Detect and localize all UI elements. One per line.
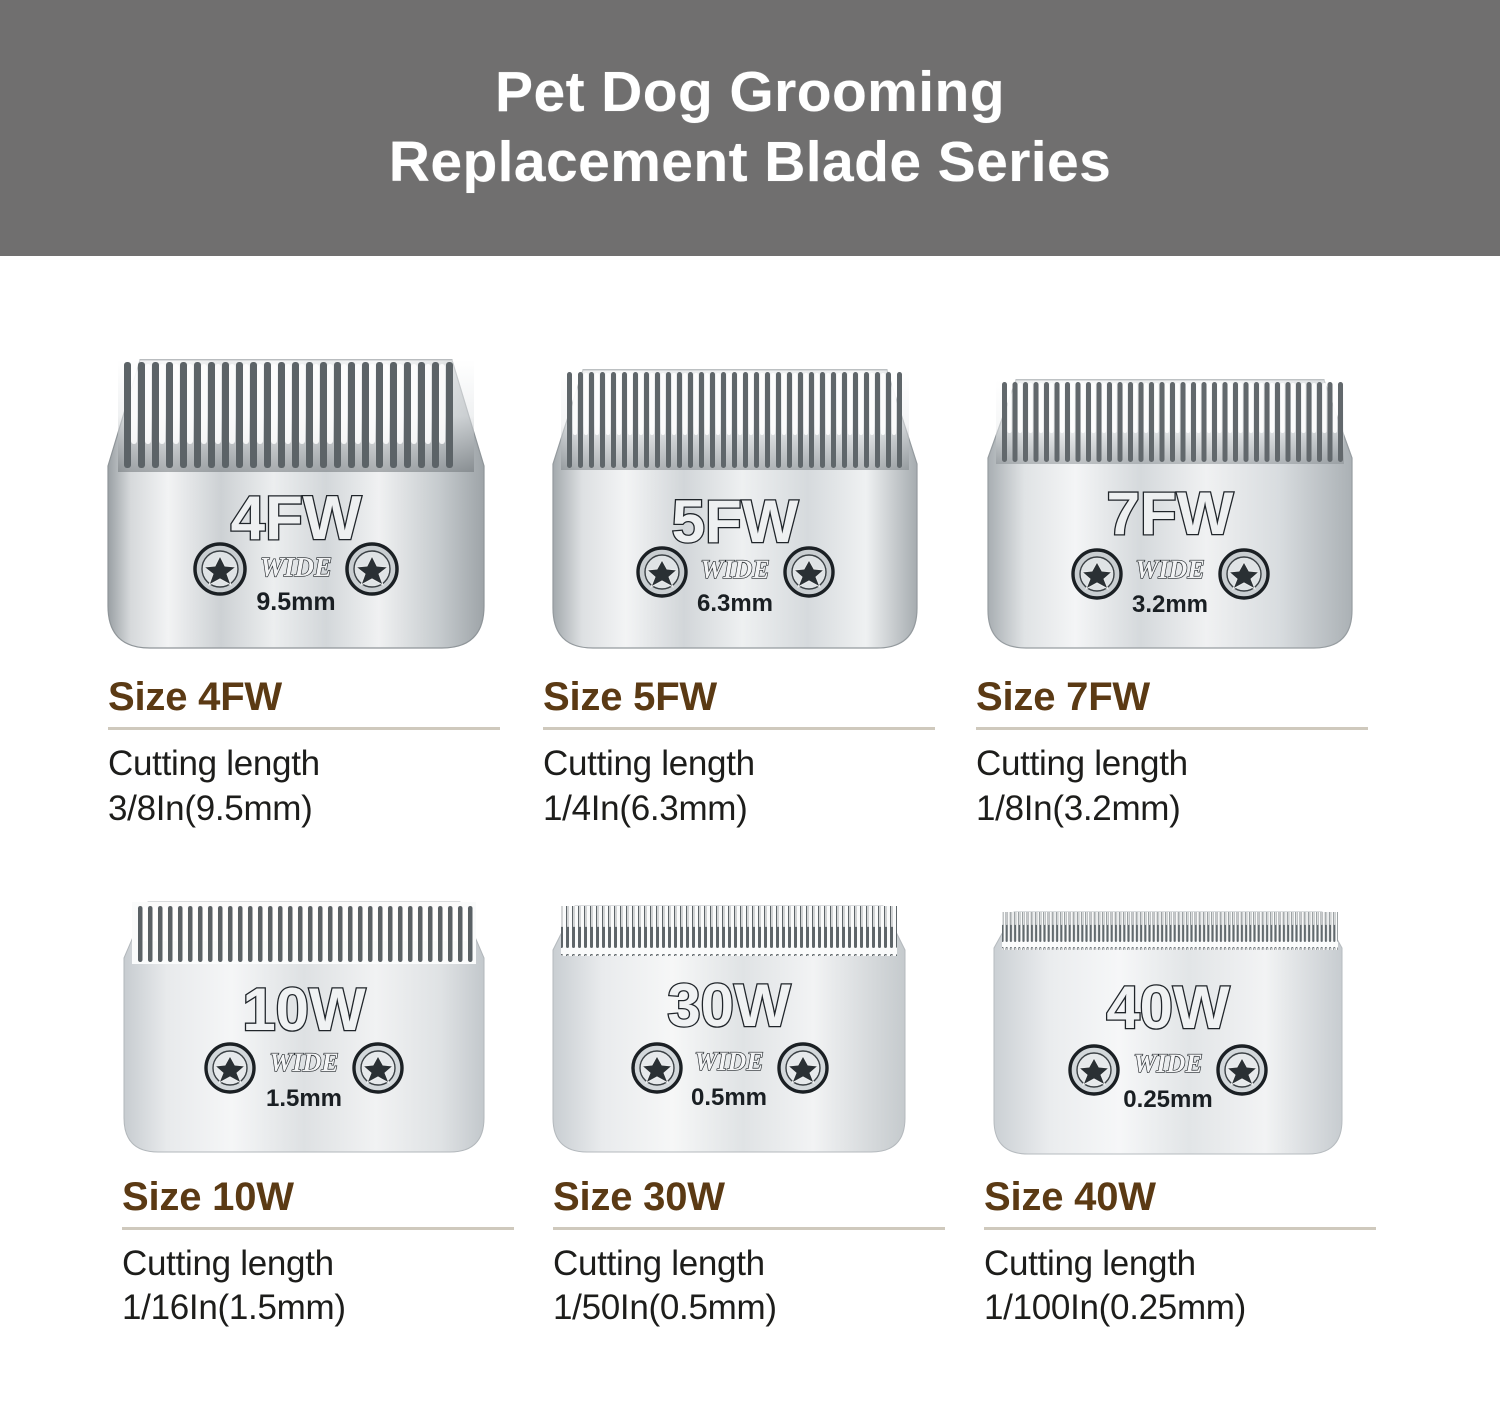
blade-screw-right-10w	[354, 1044, 402, 1092]
blade-illustration-7fw: 7FW WIDE 3.2mm	[980, 374, 1360, 654]
blade-screw-left-4fw	[195, 544, 245, 594]
blade-teeth-5fw	[561, 370, 909, 470]
blade-face-mm-10w: 1.5mm	[266, 1085, 342, 1112]
blade-screw-right-40w	[1218, 1046, 1266, 1094]
blade-figure-10w: 10W WIDE 1.5mm	[100, 890, 533, 1158]
blade-face-mm-40w: 0.25mm	[1123, 1086, 1212, 1113]
blade-face-wide-7fw: WIDE	[1135, 555, 1204, 584]
size-label-40w: Size 40W	[984, 1176, 1359, 1218]
blade-face-mm-30w: 0.5mm	[691, 1084, 767, 1111]
blade-screw-right-7fw	[1220, 550, 1268, 598]
size-label-4fw: Size 4FW	[108, 676, 493, 718]
blade-face-mm-5fw: 6.3mm	[697, 590, 773, 617]
blade-figure-40w: 40W WIDE 0.25mm	[966, 890, 1399, 1158]
cutting-length-40w: Cutting length 1/100In(0.25mm)	[984, 1242, 1359, 1332]
product-card-10w[interactable]: 10W WIDE 1.5mm Size 10W	[100, 890, 533, 1332]
caption-block-40w: Size 40W Cutting length 1/100In(0.25mm)	[966, 1176, 1399, 1332]
blade-figure-5fw: 5FW WIDE 6.3mm	[533, 354, 966, 654]
product-card-40w[interactable]: 40W WIDE 0.25mm Size 40W	[966, 890, 1399, 1332]
caption-rule-40w	[984, 1227, 1376, 1230]
blade-face-wide-40w: WIDE	[1133, 1049, 1202, 1078]
blade-screw-left-30w	[633, 1044, 681, 1092]
blade-face-code-5fw: 5FW	[672, 488, 799, 555]
blade-illustration-10w: 10W WIDE 1.5mm	[118, 896, 490, 1158]
blade-illustration-5fw: 5FW WIDE 6.3mm	[545, 364, 925, 654]
caption-block-10w: Size 10W Cutting length 1/16In(1.5mm)	[100, 1176, 533, 1332]
caption-rule-10w	[122, 1227, 514, 1230]
cutting-length-10w: Cutting length 1/16In(1.5mm)	[122, 1242, 493, 1332]
blade-illustration-40w: 40W WIDE 0.25mm	[988, 906, 1348, 1158]
blade-screw-left-40w	[1070, 1046, 1118, 1094]
blade-screw-right-4fw	[347, 544, 397, 594]
product-grid: 4FW WIDE 9.5mm Size 4FW	[0, 354, 1500, 1331]
blade-face-code-10w: 10W	[242, 976, 366, 1043]
blade-illustration-30w: 30W WIDE 0.5mm	[547, 900, 911, 1158]
size-label-5fw: Size 5FW	[543, 676, 926, 718]
blade-figure-4fw: 4FW WIDE 9.5mm	[100, 354, 533, 654]
caption-block-4fw: Size 4FW Cutting length 3/8In(9.5mm)	[100, 676, 533, 832]
blade-teeth-40w	[1002, 912, 1338, 950]
caption-rule-5fw	[543, 727, 935, 730]
blade-teeth-30w	[561, 906, 897, 956]
cutting-length-5fw: Cutting length 1/4In(6.3mm)	[543, 742, 926, 832]
caption-block-7fw: Size 7FW Cutting length 1/8In(3.2mm)	[966, 676, 1399, 832]
caption-rule-7fw	[976, 727, 1368, 730]
blade-screw-right-5fw	[785, 548, 833, 596]
blade-teeth-4fw	[118, 360, 474, 472]
blade-face-wide-30w: WIDE	[694, 1047, 763, 1076]
blade-face-mm-4fw: 9.5mm	[256, 588, 335, 616]
blade-face-code-4fw: 4FW	[231, 484, 362, 553]
product-card-5fw[interactable]: 5FW WIDE 6.3mm Size 5FW	[533, 354, 966, 832]
blade-face-wide-5fw: WIDE	[700, 555, 769, 584]
cutting-length-30w: Cutting length 1/50In(0.5mm)	[553, 1242, 926, 1332]
blade-face-mm-7fw: 3.2mm	[1132, 591, 1208, 618]
caption-rule-4fw	[108, 727, 500, 730]
product-row-top: 4FW WIDE 9.5mm Size 4FW	[0, 354, 1500, 832]
product-row-bottom: 10W WIDE 1.5mm Size 10W	[0, 890, 1500, 1332]
header-banner: Pet Dog Grooming Replacement Blade Serie…	[0, 0, 1500, 256]
blade-illustration-4fw: 4FW WIDE 9.5mm	[100, 354, 492, 654]
blade-face-code-7fw: 7FW	[1107, 480, 1234, 547]
blade-figure-30w: 30W WIDE 0.5mm	[533, 890, 966, 1158]
blade-screw-left-7fw	[1073, 550, 1121, 598]
blade-screw-left-5fw	[638, 548, 686, 596]
caption-block-5fw: Size 5FW Cutting length 1/4In(6.3mm)	[533, 676, 966, 832]
caption-rule-30w	[553, 1227, 945, 1230]
cutting-length-4fw: Cutting length 3/8In(9.5mm)	[108, 742, 493, 832]
blade-face-wide-4fw: WIDE	[260, 552, 332, 582]
page-title: Pet Dog Grooming Replacement Blade Serie…	[359, 58, 1141, 197]
size-label-10w: Size 10W	[122, 1176, 493, 1218]
product-card-7fw[interactable]: 7FW WIDE 3.2mm Size 7FW	[966, 354, 1399, 832]
size-label-30w: Size 30W	[553, 1176, 926, 1218]
blade-teeth-10w	[132, 902, 476, 964]
blade-screw-left-10w	[206, 1044, 254, 1092]
product-card-30w[interactable]: 30W WIDE 0.5mm Size 30W	[533, 890, 966, 1332]
cutting-length-7fw: Cutting length 1/8In(3.2mm)	[976, 742, 1359, 832]
blade-face-code-30w: 30W	[667, 972, 791, 1039]
caption-block-30w: Size 30W Cutting length 1/50In(0.5mm)	[533, 1176, 966, 1332]
blade-face-code-40w: 40W	[1106, 974, 1230, 1041]
blade-teeth-7fw	[996, 380, 1344, 464]
blade-figure-7fw: 7FW WIDE 3.2mm	[966, 354, 1399, 654]
product-card-4fw[interactable]: 4FW WIDE 9.5mm Size 4FW	[100, 354, 533, 832]
blade-screw-right-30w	[779, 1044, 827, 1092]
blade-face-wide-10w: WIDE	[269, 1048, 338, 1077]
size-label-7fw: Size 7FW	[976, 676, 1359, 718]
